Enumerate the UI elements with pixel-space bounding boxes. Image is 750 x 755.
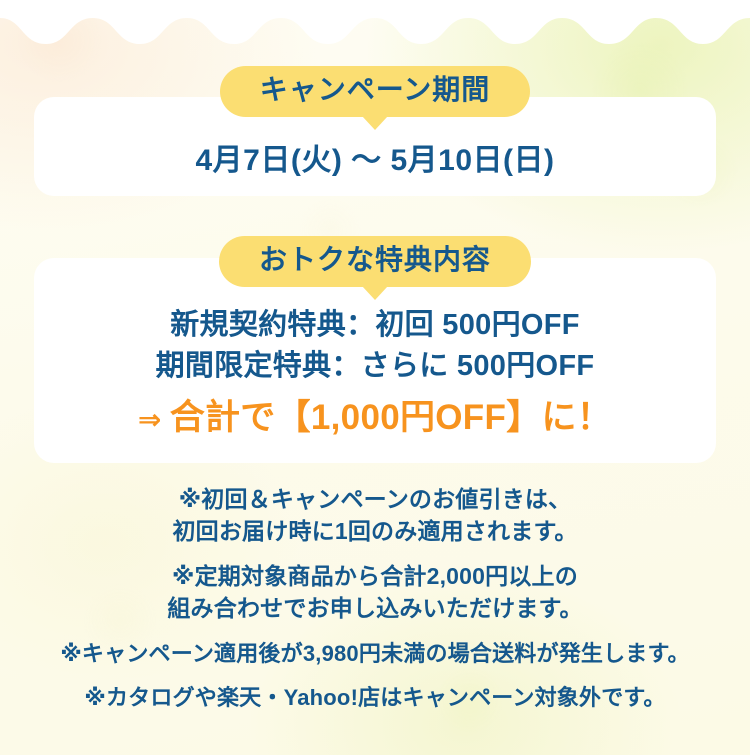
benefit-lines: 新規契約特典：初回 500円OFF 期間限定特典：さらに 500円OFF ⇒合計… <box>0 305 750 439</box>
arrow-icon: ⇒ <box>138 404 162 435</box>
campaign-period-badge: キャンペーン期間 <box>220 66 531 117</box>
footnote-list: ※初回＆キャンペーンのお値引きは、 初回お届け時に1回のみ適用されます。 ※定期… <box>0 484 750 714</box>
campaign-period-badge-wrap: キャンペーン期間 <box>0 66 750 117</box>
footnote-minimum-order: ※定期対象商品から合計2,000円以上の 組み合わせでお申し込みいただけます。 <box>0 561 750 624</box>
benefit-line-new-contract: 新規契約特典：初回 500円OFF <box>0 305 750 346</box>
benefit-badge-wrap: おトクな特典内容 <box>0 236 750 287</box>
footnote-discount-once: ※初回＆キャンペーンのお値引きは、 初回お届け時に1回のみ適用されます。 <box>0 484 750 547</box>
footnote-excluded-stores: ※カタログや楽天・Yahoo!店はキャンペーン対象外です。 <box>0 683 750 713</box>
campaign-banner: キャンペーン期間 4月7日(火) ～ 5月10日(日) おトクな特典内容 新規契… <box>0 0 750 755</box>
benefit-total-label: 合計で【1,000円OFF】に！ <box>170 398 612 437</box>
scalloped-top-edge <box>0 0 750 46</box>
footnote-shipping-fee: ※キャンペーン適用後が3,980円未満の場合送料が発生します。 <box>0 639 750 669</box>
benefit-details-badge: おトクな特典内容 <box>219 236 531 287</box>
benefit-line-limited-time: 期間限定特典：さらに 500円OFF <box>0 346 750 387</box>
campaign-period-dates: 4月7日(火) ～ 5月10日(日) <box>0 135 750 179</box>
benefit-total-row: ⇒合計で【1,000円OFF】に！ <box>0 397 750 439</box>
